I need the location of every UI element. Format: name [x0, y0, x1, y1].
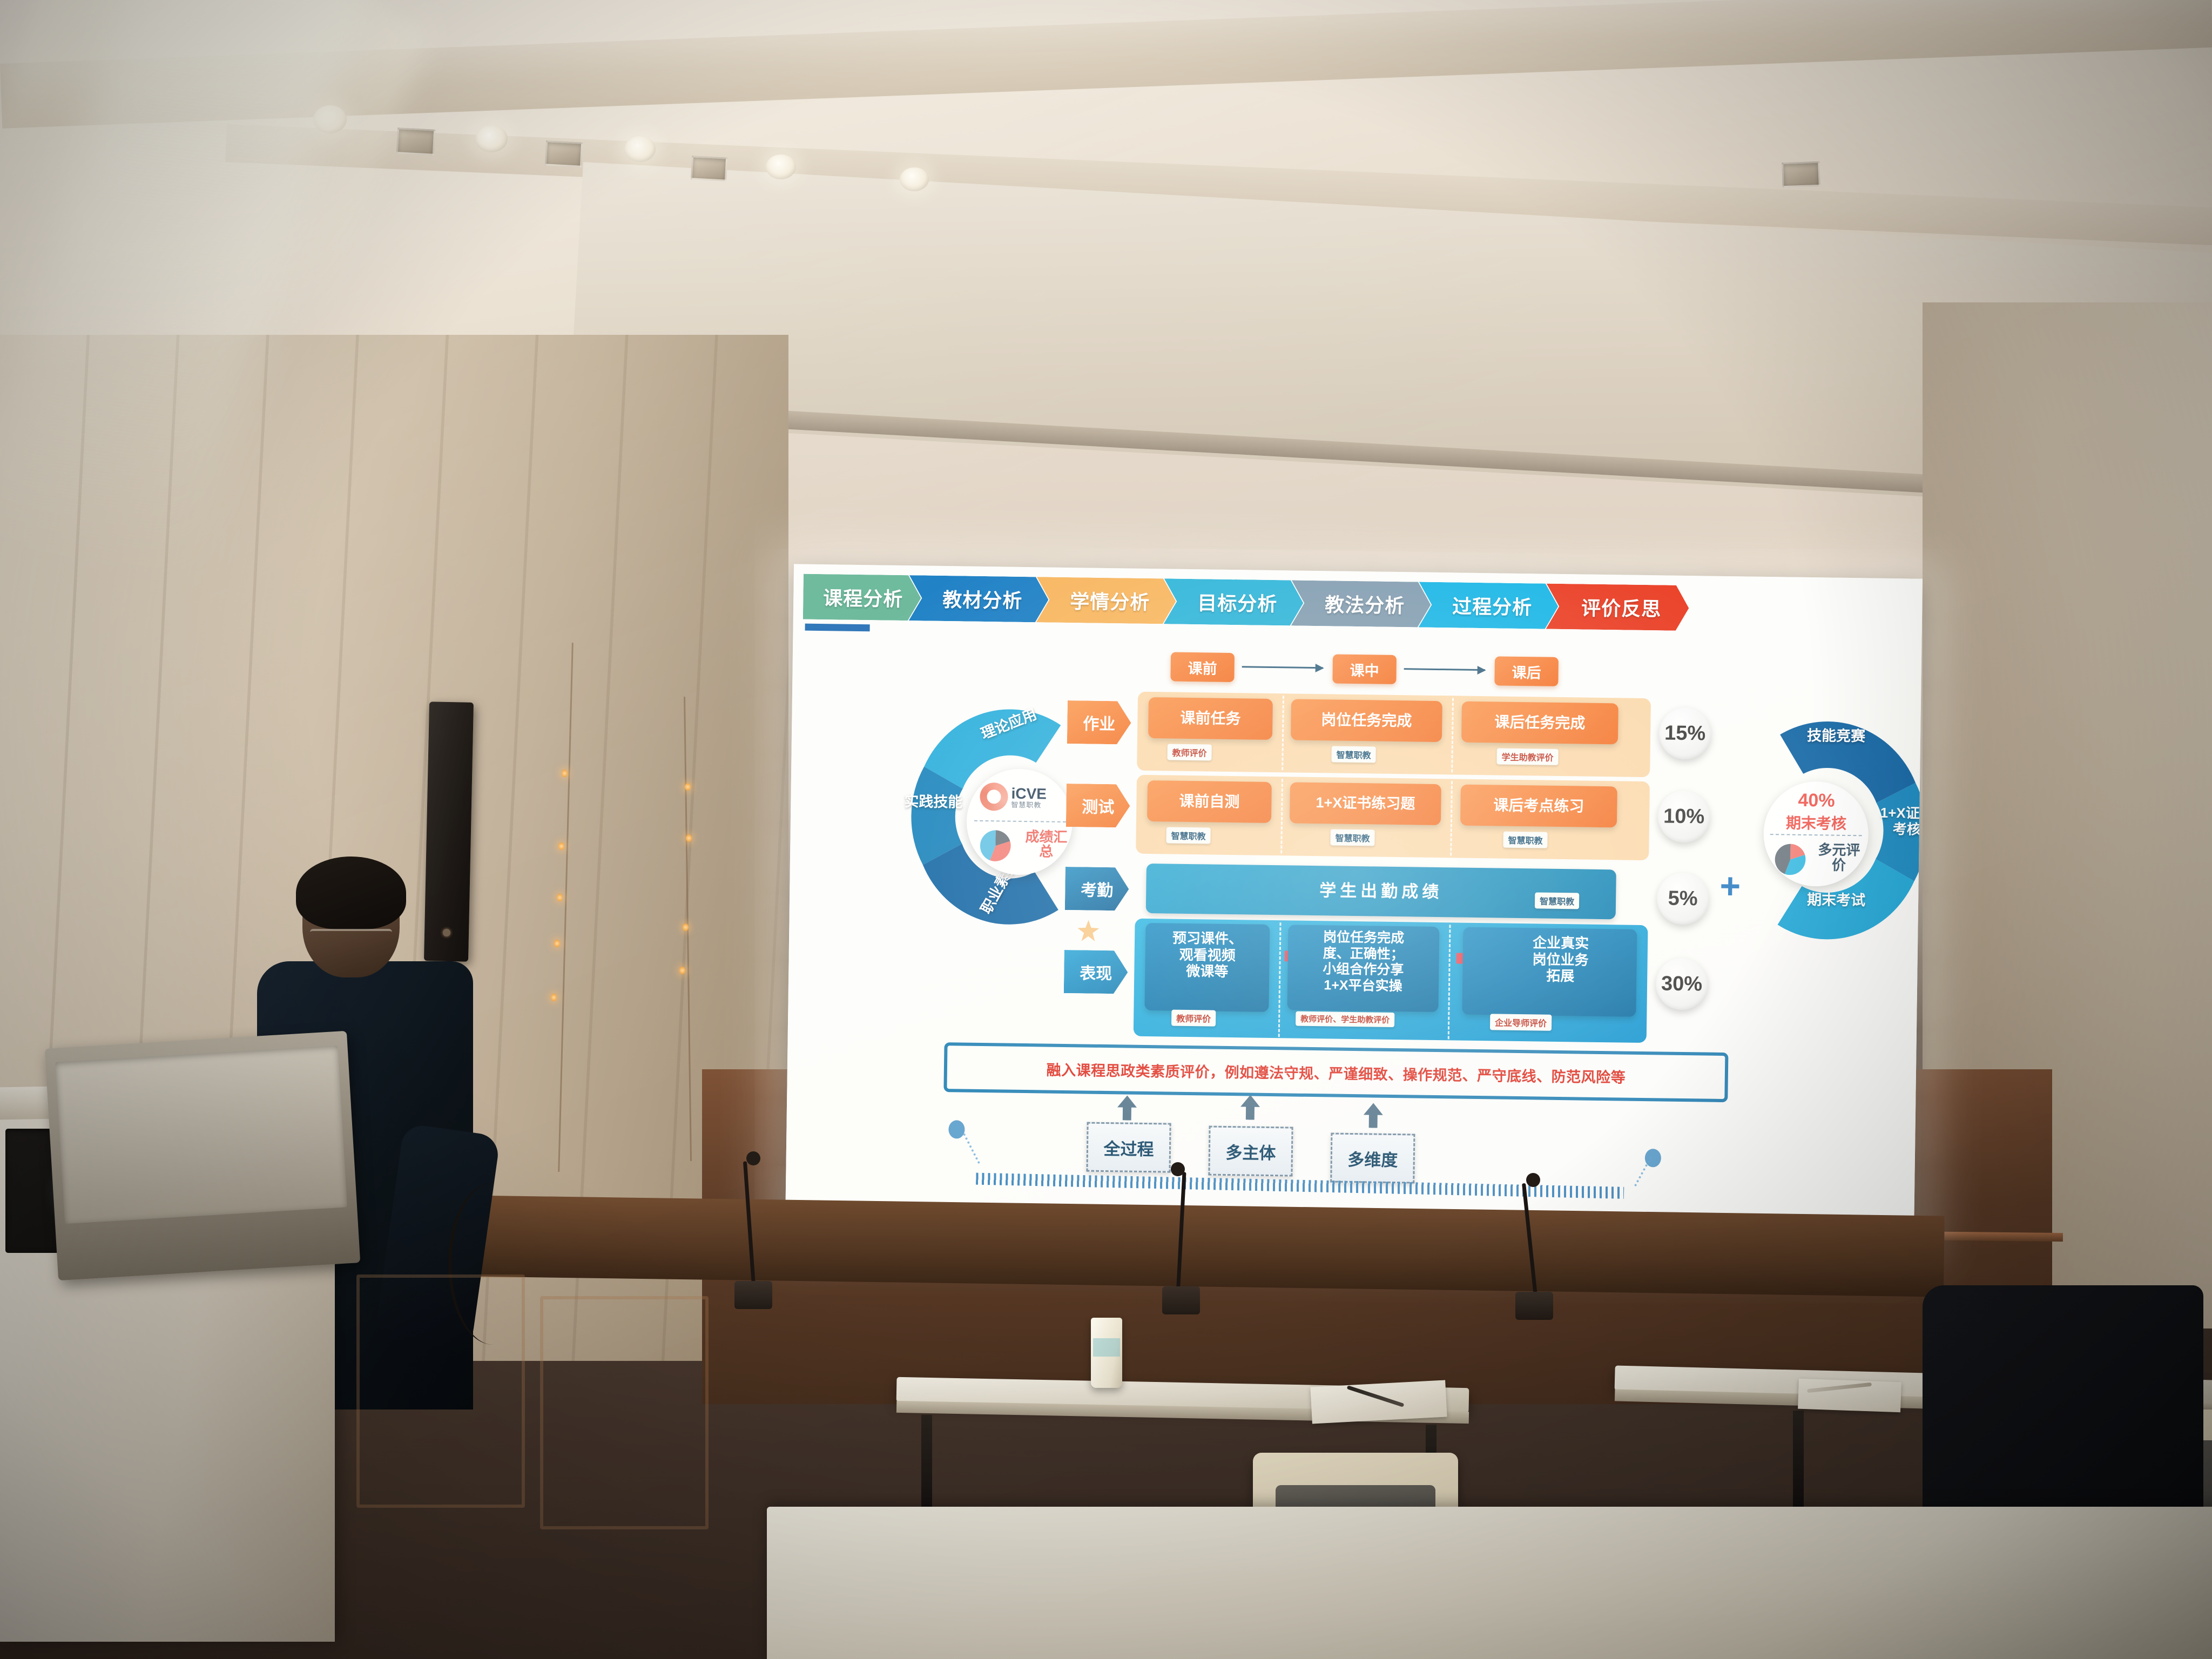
cell-performance-after[interactable]: 企业真实 岗位业务 拓展 — [1462, 927, 1637, 1017]
decorative-dot — [948, 1120, 965, 1138]
weight-homework: 15% — [1659, 707, 1711, 759]
string-light-bulb — [557, 894, 563, 901]
microphone-head — [1171, 1162, 1185, 1176]
presentation-slide: 课程分析 教材分析 学情分析 目标分析 教法分析 过程分析 评价反思 课前 课中… — [785, 564, 1923, 1243]
cell-performance-before[interactable]: 预习课件、 观看视频 微课等 — [1144, 923, 1270, 1012]
breadcrumb-step-3[interactable]: 学情分析 — [1036, 577, 1176, 624]
phase-during-class[interactable]: 课中 — [1332, 654, 1397, 684]
ceiling-downlight — [313, 105, 347, 133]
string-light-bulb — [562, 770, 568, 777]
microphone-base — [1515, 1292, 1553, 1320]
string-light-bulb — [679, 967, 685, 974]
right-donut-arc-label-2: 1+X证书考核 — [1877, 805, 1923, 838]
microphone-base — [734, 1281, 772, 1309]
icve-subtitle: 智慧职教 — [1011, 801, 1047, 808]
breadcrumb-step-1[interactable]: 课程分析 — [803, 574, 921, 621]
tag-performance-before: 教师评价 — [1171, 1010, 1216, 1027]
up-arrow-icon — [1117, 1095, 1137, 1120]
cell-homework-during[interactable]: 岗位任务完成 — [1291, 699, 1442, 742]
cell-homework-after[interactable]: 课后任务完成 — [1461, 702, 1618, 745]
string-light-bulb — [554, 940, 560, 947]
microphone-head — [1526, 1173, 1540, 1187]
podium-monitor-screen — [55, 1046, 347, 1224]
breadcrumb-step-4[interactable]: 目标分析 — [1164, 578, 1304, 625]
phase-after-class[interactable]: 课后 — [1494, 656, 1559, 686]
tag-homework-before: 教师评价 — [1167, 744, 1211, 760]
pill-multi-subject[interactable]: 多主体 — [1208, 1126, 1293, 1177]
presenter-glasses — [310, 929, 392, 945]
right-hub-title: 期末考核 — [1764, 811, 1869, 834]
star-icon — [1077, 920, 1100, 942]
foreground-table — [767, 1507, 2212, 1659]
wainscot-panel — [356, 1274, 525, 1508]
wainscot-panel — [540, 1296, 709, 1529]
ceiling-downlight — [624, 136, 656, 162]
ceiling-downlight — [900, 167, 929, 191]
cell-attendance-all[interactable]: 学生出勤成绩 — [1146, 864, 1616, 919]
phase-arrow-1 — [1242, 666, 1323, 669]
right-donut-arc-label-3: 期末考试 — [1798, 892, 1874, 909]
ideology-banner-text: 融入课程思政类素质评价，例如遵法守规、严谨细致、操作规范、严守底线、防范风险等 — [1046, 1058, 1626, 1087]
weight-performance: 30% — [1655, 957, 1708, 1010]
dotted-connector — [963, 1133, 980, 1164]
tag-homework-during: 智慧职教 — [1331, 746, 1375, 763]
cell-homework-before[interactable]: 课前任务 — [1148, 697, 1273, 740]
ceiling-air-vent — [545, 140, 583, 167]
hub-divider — [974, 820, 1066, 822]
left-donut-arc-label-2: 实践技能 — [901, 793, 966, 811]
icve-e-icon — [980, 783, 1008, 811]
ceiling-downlight — [766, 154, 796, 179]
assessment-matrix: 作业 课前任务 教师评价 岗位任务完成 智慧职教 课后任务完成 学生助教评价 1… — [1058, 691, 1721, 1045]
breadcrumb-step-2[interactable]: 教材分析 — [909, 575, 1049, 622]
phase-before-class[interactable]: 课前 — [1170, 652, 1235, 683]
breadcrumb-step-6[interactable]: 过程分析 — [1419, 582, 1559, 629]
weight-attendance: 5% — [1657, 872, 1709, 925]
paper-cup-band — [1093, 1338, 1120, 1357]
right-hub-percent: 40% — [1764, 790, 1869, 812]
projection-screen: 课程分析 教材分析 学情分析 目标分析 教法分析 过程分析 评价反思 课前 课中… — [785, 564, 1923, 1243]
photo-scene: 课程分析 教材分析 学情分析 目标分析 教法分析 过程分析 评价反思 课前 课中… — [0, 0, 2212, 1659]
cell-quiz-before[interactable]: 课前自测 — [1147, 780, 1272, 823]
tag-attendance: 智慧职教 — [1535, 892, 1579, 909]
paper-sheet — [1310, 1380, 1447, 1424]
right-hub-pie-chart-icon — [1771, 841, 1810, 878]
row-label-quiz[interactable]: 测试 — [1066, 784, 1130, 828]
tag-quiz-before: 智慧职教 — [1166, 827, 1210, 844]
string-light-bulb — [683, 923, 689, 931]
icve-wordmark: iCVE — [1011, 786, 1047, 801]
plus-icon: + — [1719, 868, 1741, 903]
up-arrow-icon — [1364, 1103, 1384, 1128]
ceiling-air-vent — [691, 156, 727, 181]
dotted-connector — [1634, 1156, 1652, 1186]
paper-sheet — [1798, 1379, 1901, 1413]
microphone-base — [1162, 1286, 1200, 1314]
row-label-performance[interactable]: 表现 — [1064, 950, 1128, 994]
row-label-attendance[interactable]: 考勤 — [1065, 867, 1129, 911]
right-hub-caption: 多元评价 — [1815, 842, 1863, 873]
string-light-bulb — [558, 842, 564, 850]
ceiling-air-vent — [396, 127, 435, 156]
weight-quiz: 10% — [1658, 790, 1710, 842]
string-light-bulb — [551, 994, 557, 1001]
ideology-banner: 融入课程思政类素质评价，例如遵法守规、严谨细致、操作规范、严守底线、防范风险等 — [943, 1042, 1728, 1102]
cell-performance-during[interactable]: 岗位任务完成 度、正确性； 小组合作分享 1+X平台实操 — [1287, 925, 1439, 1012]
ceiling-air-vent — [1782, 161, 1820, 187]
pill-whole-process[interactable]: 全过程 — [1086, 1122, 1171, 1173]
up-arrow-icon — [1240, 1095, 1260, 1120]
tag-quiz-during: 智慧职教 — [1330, 829, 1374, 846]
string-light-bulb — [686, 834, 692, 842]
breadcrumb-active-underline — [805, 624, 870, 632]
tag-quiz-after: 智慧职教 — [1503, 832, 1547, 848]
row-label-homework[interactable]: 作业 — [1067, 700, 1131, 745]
tag-homework-after: 学生助教评价 — [1496, 748, 1558, 765]
phase-flow: 课前 课中 课后 — [1170, 649, 1570, 692]
breadcrumb: 课程分析 教材分析 学情分析 目标分析 教法分析 过程分析 评价反思 — [803, 574, 1689, 631]
breadcrumb-step-5[interactable]: 教法分析 — [1291, 580, 1431, 627]
cell-quiz-during[interactable]: 1+X证书练习题 — [1290, 782, 1441, 825]
pill-multi-dimension[interactable]: 多维度 — [1330, 1132, 1415, 1183]
right-donut-arc-label-1: 技能竞赛 — [1798, 727, 1874, 745]
cell-quiz-after[interactable]: 课后考点练习 — [1460, 785, 1617, 828]
phase-arrow-2 — [1404, 668, 1485, 671]
ceiling-downlight — [475, 125, 508, 152]
icve-logo: iCVE 智慧职教 — [980, 783, 1047, 812]
tag-performance-after: 企业导师评价 — [1490, 1014, 1552, 1030]
string-light-bulb — [685, 783, 691, 791]
microphone-head — [746, 1151, 760, 1165]
breadcrumb-step-7[interactable]: 评价反思 — [1546, 584, 1689, 631]
tag-performance-during: 教师评价、学生助教评价 — [1296, 1011, 1394, 1027]
podium-monitor — [45, 1031, 361, 1280]
table-leg — [1793, 1411, 1804, 1513]
hub-divider — [1770, 834, 1862, 836]
right-donut-hub: 40% 期末考核 多元评价 — [1763, 781, 1869, 887]
left-donut-hub: iCVE 智慧职教 成绩汇总 — [966, 768, 1074, 876]
left-hub-pie-chart-icon — [976, 828, 1015, 864]
presenter-hair — [296, 857, 406, 929]
